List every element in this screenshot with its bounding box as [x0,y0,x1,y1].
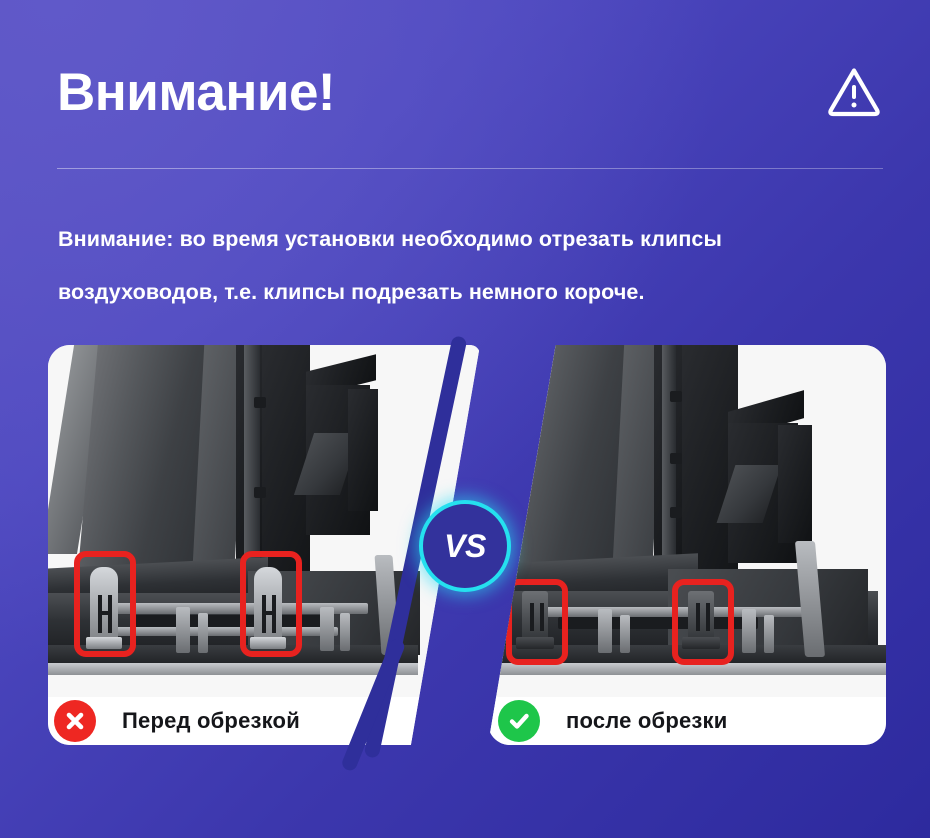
cross-icon [54,700,96,742]
after-card: после обрезки [488,345,886,745]
before-label-bar: Перед обрезкой [48,697,480,745]
after-label-bar: после обрезки [488,697,886,745]
after-label: после обрезки [566,708,727,734]
vs-badge: VS [419,500,511,592]
header-divider [57,168,883,169]
highlight-box-clip-2 [240,551,302,657]
vs-label: VS [444,528,486,565]
highlight-box-clip-2 [672,579,734,665]
highlight-box-clip-1 [74,551,136,657]
duct-scene-after [488,345,886,697]
attention-infographic: Внимание! Внимание: во время установки н… [0,0,930,838]
highlight-box-clip-1 [506,579,568,665]
page-title: Внимание! [57,52,882,134]
header: Внимание! [57,52,882,134]
warning-triangle-icon [826,65,882,119]
before-label: Перед обрезкой [122,708,300,734]
check-icon [498,700,540,742]
after-photo [488,345,886,697]
body-text: Внимание: во время установки необходимо … [58,213,884,319]
